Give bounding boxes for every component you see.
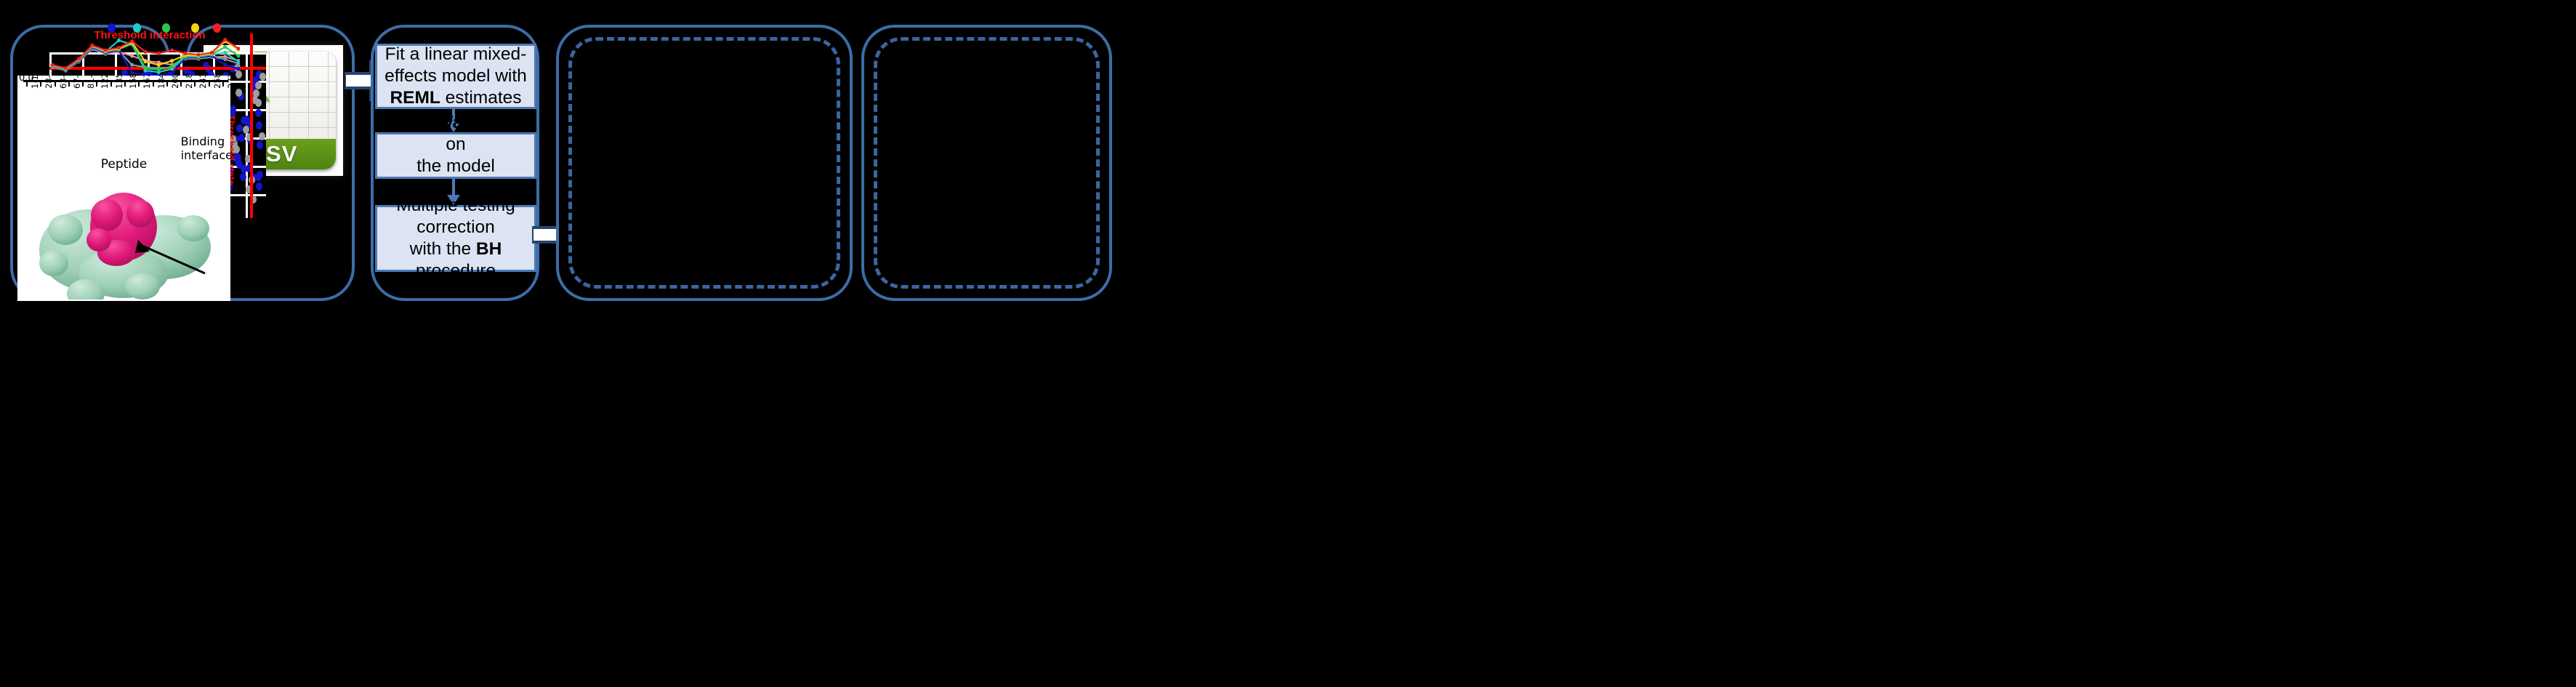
legend-dot bbox=[213, 23, 221, 33]
legend-dot bbox=[191, 23, 199, 33]
peptide-tick-label: 218-237 bbox=[184, 76, 194, 89]
line-point bbox=[117, 39, 121, 42]
peptide-tick bbox=[138, 80, 140, 87]
line-point bbox=[223, 45, 227, 49]
line-point bbox=[223, 57, 227, 61]
peptide-tick bbox=[55, 80, 56, 87]
fit-model-box[interactable]: Fit a linear mixed-effects model withREM… bbox=[375, 44, 536, 109]
peptide-tick-label: 67-75 bbox=[72, 76, 82, 89]
wald-tests-text: Apply Wald tests onthe model parameters bbox=[382, 112, 530, 199]
volcano-point bbox=[238, 134, 245, 142]
peptide-tick bbox=[194, 80, 196, 87]
peptide-tick-label: 258-266 bbox=[212, 76, 222, 89]
peptide-tick-label: 158-166 bbox=[128, 76, 138, 89]
line-point bbox=[143, 50, 147, 54]
line-point bbox=[223, 51, 227, 55]
binding-interface-line2: interface bbox=[181, 148, 230, 162]
peptide-tick bbox=[124, 80, 126, 87]
line-point bbox=[64, 66, 68, 70]
threshold-state-line bbox=[250, 33, 253, 218]
fit-model-text: Fit a linear mixed-effects model withREM… bbox=[385, 44, 527, 109]
line-point bbox=[157, 68, 161, 71]
line-point bbox=[143, 66, 147, 70]
line-point bbox=[183, 52, 187, 55]
line-point bbox=[50, 63, 54, 67]
line-point bbox=[90, 44, 94, 47]
peptide-tick-label: 28-44 bbox=[44, 76, 54, 89]
line-point bbox=[223, 38, 227, 41]
legend-dot bbox=[162, 23, 170, 33]
line-point bbox=[197, 53, 201, 57]
peptide-tick-label: 81-101 bbox=[86, 76, 96, 89]
panel-volcano-plot[interactable] bbox=[556, 25, 853, 301]
peptide-tick-label: 167-180 bbox=[142, 76, 152, 89]
peptide-tick-label: 63-73 bbox=[58, 76, 68, 89]
peptide-tick bbox=[166, 80, 168, 87]
line-point bbox=[117, 46, 121, 49]
line-point bbox=[223, 63, 227, 67]
line-point bbox=[130, 54, 134, 57]
line-point bbox=[210, 51, 214, 55]
line-point bbox=[143, 60, 147, 63]
volcano-point bbox=[259, 73, 266, 81]
volcano-point bbox=[240, 173, 246, 181]
protein-structure-image bbox=[22, 177, 227, 300]
volcano-dashed-frame bbox=[568, 37, 840, 289]
legend-dot bbox=[108, 23, 116, 33]
peptide-tick bbox=[82, 80, 84, 87]
binding-interface-label: Binding interface bbox=[181, 135, 230, 163]
peptide-tick-label: 241-257 bbox=[198, 76, 208, 89]
line-point bbox=[130, 39, 134, 43]
peptide-tick-label: 122-129 bbox=[100, 76, 110, 89]
peptide-tick bbox=[26, 80, 28, 87]
peptide-tick-label: 277-284 bbox=[226, 76, 230, 89]
peptide-tick bbox=[222, 80, 224, 87]
volcano-point bbox=[256, 121, 262, 129]
line-point bbox=[130, 63, 134, 67]
peptide-tick-label: 184-199 bbox=[156, 76, 166, 89]
line-series-svg bbox=[15, 23, 240, 78]
line-point bbox=[170, 48, 174, 52]
bh-correction-box[interactable]: Multiple testingcorrectionwith the BH pr… bbox=[375, 205, 536, 272]
peptide-tick-label: 200-214 bbox=[170, 76, 180, 89]
binding-interface-line1: Binding bbox=[181, 134, 225, 148]
legend-dot bbox=[133, 23, 141, 33]
line-point bbox=[157, 63, 161, 67]
line-point bbox=[77, 57, 81, 60]
peptide-tick bbox=[209, 80, 210, 87]
peptide-tick bbox=[96, 80, 97, 87]
peptide-tick-label: 135-144 bbox=[114, 76, 124, 89]
peptide-tick bbox=[110, 80, 112, 87]
bh-correction-text: Multiple testingcorrectionwith the BH pr… bbox=[382, 195, 530, 282]
results-dashed-frame bbox=[874, 37, 1100, 289]
volcano-point bbox=[259, 132, 265, 140]
line-point bbox=[157, 52, 161, 55]
peptide-tick bbox=[180, 80, 182, 87]
peptide-tick bbox=[68, 80, 70, 87]
wald-tests-box[interactable]: Apply Wald tests onthe model parameters bbox=[375, 132, 536, 179]
panel-results[interactable] bbox=[861, 25, 1112, 301]
peptide-tick-label: 1-15 bbox=[30, 76, 40, 89]
peptide-line-chart bbox=[15, 23, 240, 78]
line-point bbox=[130, 71, 134, 75]
line-point bbox=[104, 48, 108, 52]
line-point bbox=[236, 67, 240, 71]
line-point bbox=[170, 65, 174, 68]
flow-arrow-2 bbox=[452, 179, 455, 196]
peptide-tick bbox=[40, 80, 41, 87]
peptide-tick bbox=[153, 80, 154, 87]
peptide-axis-card: 0.0 1-1528-4463-7367-7581-101122-129135-… bbox=[17, 76, 230, 301]
line-point bbox=[170, 59, 174, 63]
